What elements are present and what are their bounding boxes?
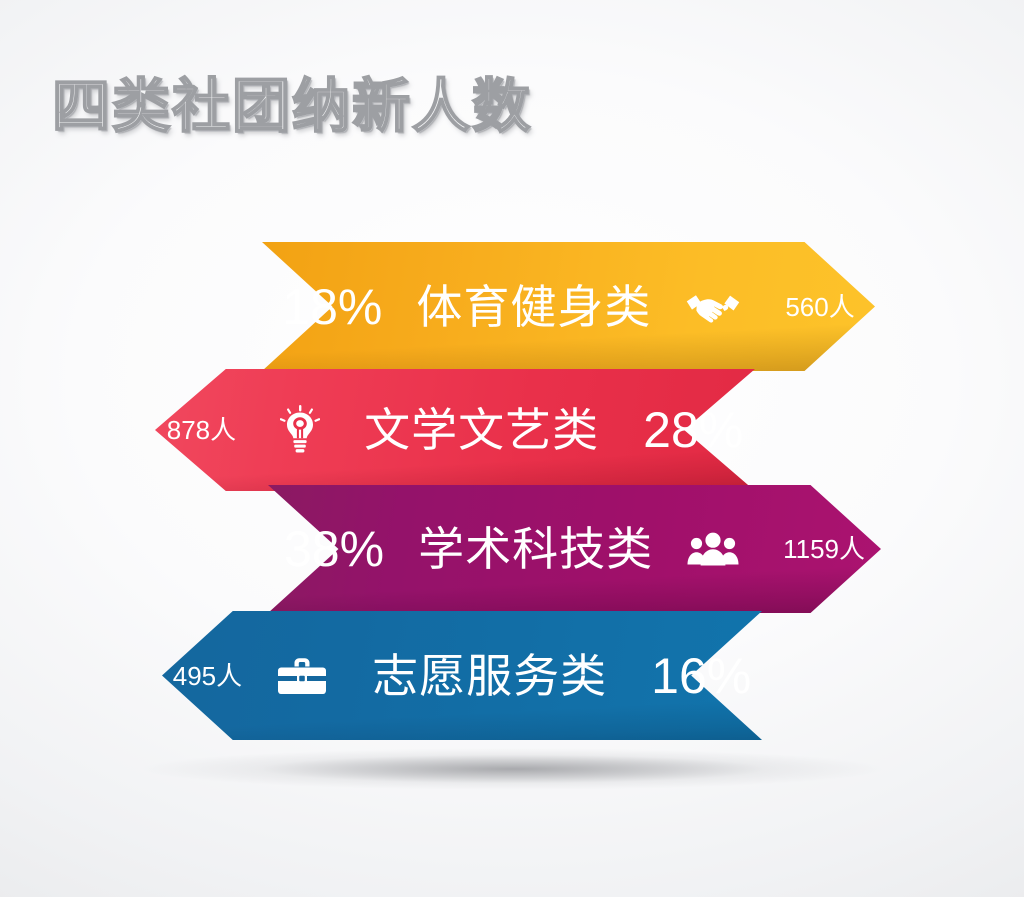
banner-content-sports: 18% 体育健身类: [262, 242, 875, 371]
stack-drop-shadow: [140, 748, 885, 790]
banner-row-volunteer[interactable]: 495人 志愿服务类 16: [162, 611, 762, 740]
people-group-icon: [687, 531, 739, 567]
category-label-academic: 学术科技类: [418, 526, 653, 572]
category-label-volunteer: 志愿服务类: [372, 653, 607, 699]
page-title: 四类社团纳新人数: [52, 68, 672, 144]
briefcase-icon: [276, 654, 328, 698]
lightbulb-icon: [280, 405, 320, 455]
count-label-volunteer: 495人: [173, 663, 242, 689]
banner-content-volunteer: 495人 志愿服务类 16: [162, 611, 762, 740]
banner-content-literature: 878人: [155, 369, 755, 491]
category-label-sports: 体育健身类: [416, 284, 651, 330]
handshake-icon: [685, 287, 741, 327]
percent-label-literature: 28%: [643, 405, 743, 455]
percent-label-academic: 38%: [284, 524, 384, 574]
banner-content-academic: 38% 学术科技类: [268, 485, 881, 613]
percent-label-sports: 18%: [282, 282, 382, 332]
count-label-academic: 1159人: [783, 536, 865, 562]
banner-row-academic[interactable]: 38% 学术科技类: [268, 485, 881, 613]
count-label-sports: 560人: [785, 294, 854, 320]
banner-stack: 18% 体育健身类: [0, 236, 1024, 746]
title-area: 四类社团纳新人数: [52, 68, 672, 146]
percent-label-volunteer: 16%: [651, 651, 751, 701]
banner-row-literature[interactable]: 878人: [155, 369, 755, 491]
count-label-literature: 878人: [167, 417, 236, 443]
category-label-literature: 文学文艺类: [364, 407, 599, 453]
banner-row-sports[interactable]: 18% 体育健身类: [262, 242, 875, 371]
